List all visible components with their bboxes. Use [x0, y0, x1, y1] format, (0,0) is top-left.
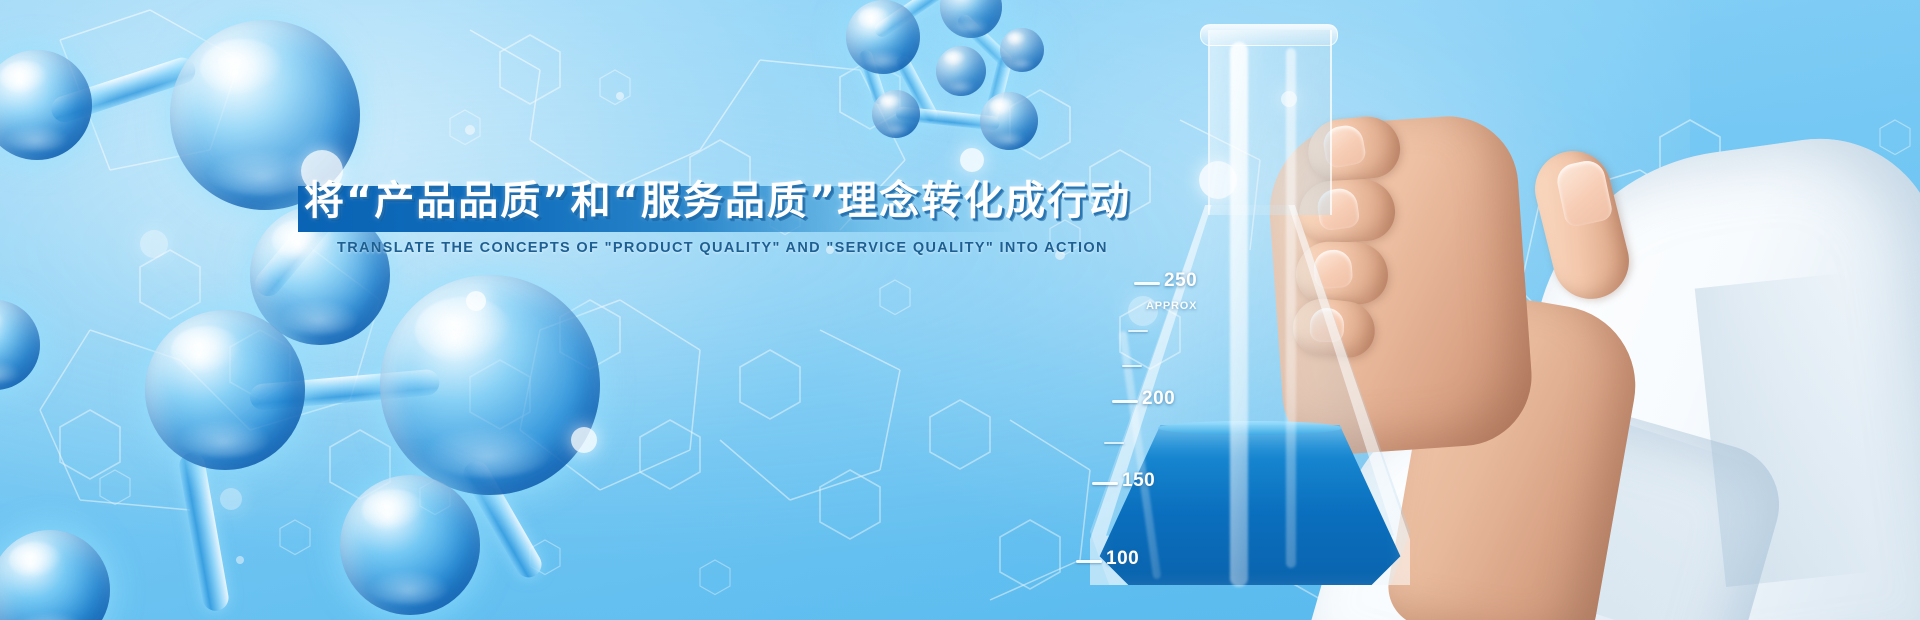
flask-lip: [1200, 24, 1338, 46]
bubble: [571, 427, 597, 453]
bubble: [1199, 161, 1237, 199]
graduation-tick-minor: [1104, 442, 1124, 444]
lab-coat-shoulder: [1506, 123, 1920, 620]
subtitle-en: TRANSLATE THE CONCEPTS OF "PRODUCT QUALI…: [337, 240, 1108, 256]
scientist-holding-flask: 250 APPROX 200 150 100: [1020, 0, 1920, 620]
bubble: [1702, 332, 1722, 352]
forearm: [1382, 284, 1648, 620]
thumbnail: [1554, 158, 1614, 229]
bubble: [1281, 91, 1297, 107]
flask-outline: [1090, 205, 1410, 585]
lab-coat-fold: [1695, 273, 1876, 587]
background-glow-left: [0, 0, 960, 558]
background-glow-right: [768, 0, 1690, 589]
atom-sphere: [872, 90, 920, 138]
atom-sphere: [380, 275, 600, 495]
erlenmeyer-flask: 250 APPROX 200 150 100: [1080, 30, 1420, 590]
atom-sphere: [0, 50, 92, 160]
atom-sphere: [0, 530, 110, 620]
fingernail: [1321, 123, 1367, 169]
fingernail: [1315, 186, 1360, 231]
bubble: [1128, 296, 1158, 326]
hero-banner: 250 APPROX 200 150 100 将“产品品质”和“服务品质”理念转…: [0, 0, 1920, 620]
graduation-label-150: 150: [1122, 470, 1155, 492]
graduation-tick: [1076, 560, 1102, 563]
graduation-tick: [1134, 282, 1160, 285]
headline-cn: 将“产品品质”和“服务品质”理念转化成行动: [304, 168, 1131, 226]
finger: [1290, 296, 1377, 360]
graduation-tick: [1112, 400, 1138, 403]
glass-highlight: [1286, 48, 1296, 568]
flask-liquid-surface: [1158, 421, 1342, 435]
atom-sphere: [0, 300, 40, 390]
palm: [1264, 112, 1536, 459]
graduation-tick-minor: [1128, 330, 1148, 332]
atom-sphere: [145, 310, 305, 470]
molecule-ring-top-right: [840, 0, 1070, 160]
lab-coat-sleeve: [1307, 348, 1793, 620]
graduation-label-250: 250: [1164, 270, 1197, 292]
atom-sphere: [340, 475, 480, 615]
graduation-label-100: 100: [1106, 548, 1139, 570]
atom-sphere: [1000, 28, 1044, 72]
finger: [1305, 113, 1403, 184]
headline-bar: 将“产品品质”和“服务品质”理念转化成行动: [298, 186, 1018, 232]
lab-coat-fold: [1496, 401, 1764, 620]
glass-highlight: [1119, 331, 1162, 580]
atom-sphere: [980, 92, 1038, 150]
atom-sphere: [940, 0, 1002, 38]
glass-highlight: [1230, 42, 1248, 587]
flask-neck: [1208, 30, 1332, 215]
graduation-label-approx: APPROX: [1146, 300, 1197, 312]
bubble: [466, 291, 486, 311]
graduation-tick-minor: [1122, 365, 1142, 367]
fingernail: [1309, 307, 1344, 342]
flask-liquid: [1090, 425, 1410, 585]
graduation-tick: [1092, 482, 1118, 485]
bubble: [1434, 256, 1458, 280]
bubble: [140, 230, 168, 258]
background-vignette: [0, 0, 1920, 620]
finger: [1297, 178, 1396, 245]
fingernail: [1313, 249, 1354, 290]
flask-body: [1090, 205, 1410, 585]
atom-sphere: [846, 0, 920, 74]
thumb: [1527, 143, 1637, 307]
molecule-cluster-bottom-left: [50, 290, 750, 620]
hexagon-network-pattern: [0, 0, 1920, 620]
graduation-label-200: 200: [1142, 388, 1175, 410]
headline-block: 将“产品品质”和“服务品质”理念转化成行动: [298, 186, 1018, 232]
bubble: [220, 488, 242, 510]
finger: [1295, 241, 1388, 305]
bubble: [1645, 202, 1663, 220]
atom-sphere: [936, 46, 986, 96]
